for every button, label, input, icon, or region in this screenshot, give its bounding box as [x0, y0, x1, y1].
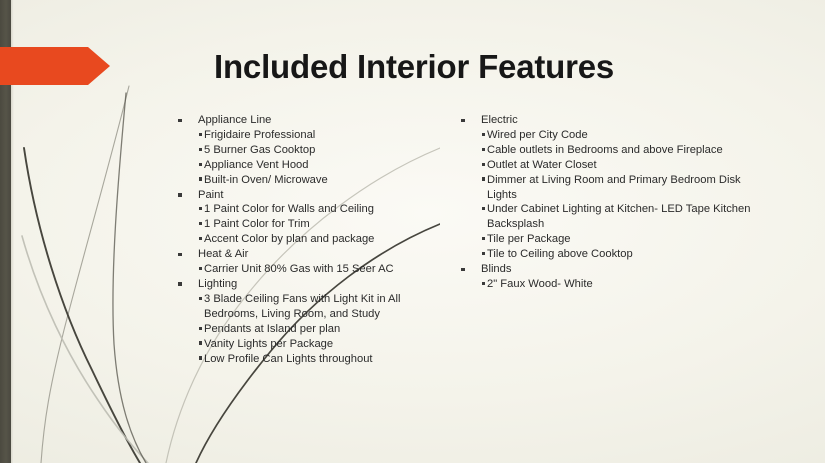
group-heading-label: Paint — [198, 189, 224, 201]
feature-item-label: 2" Faux Wood- White — [487, 278, 593, 290]
group-heading-label: Appliance Line — [198, 114, 271, 126]
feature-item: Carrier Unit 80% Gas with 15 Seer AC — [175, 262, 447, 277]
feature-item-label: Appliance Vent Hood — [204, 159, 309, 171]
feature-group-heading: Appliance Line — [175, 113, 447, 128]
feature-column-left: Appliance Line Frigidaire Professional 5… — [175, 113, 447, 366]
square-bullet-icon — [199, 163, 202, 166]
feature-item-label: Tile per Package — [487, 233, 571, 245]
feature-item: Tile to Ceiling above Cooktop — [458, 247, 758, 262]
square-bullet-icon — [199, 327, 202, 330]
feature-item-label: Pendants at Island per plan — [204, 323, 340, 335]
feature-item: 1 Paint Color for Walls and Ceiling — [175, 202, 447, 217]
feature-item: Tile per Package — [458, 232, 758, 247]
feature-item-label: Vanity Lights per Package — [204, 338, 333, 350]
square-bullet-icon — [199, 237, 202, 240]
feature-item-label: Cable outlets in Bedrooms and above Fire… — [487, 144, 723, 156]
square-bullet-icon — [178, 119, 182, 123]
feature-item: Under Cabinet Lighting at Kitchen- LED T… — [458, 202, 758, 232]
feature-item: Appliance Vent Hood — [175, 158, 447, 173]
square-bullet-icon — [461, 268, 465, 272]
feature-group-heading: Paint — [175, 188, 447, 203]
feature-item: 2" Faux Wood- White — [458, 277, 758, 292]
square-bullet-icon — [482, 177, 485, 180]
feature-item-label: 1 Paint Color for Trim — [204, 218, 310, 230]
group-heading-label: Lighting — [198, 278, 237, 290]
feature-column-right: Electric Wired per City Code Cable outle… — [458, 113, 758, 292]
square-bullet-icon — [199, 133, 202, 136]
feature-group-heading: Lighting — [175, 277, 447, 292]
square-bullet-icon — [199, 148, 202, 151]
feature-item-label: Under Cabinet Lighting at Kitchen- LED T… — [487, 203, 750, 230]
feature-item: 1 Paint Color for Trim — [175, 217, 447, 232]
square-bullet-icon — [178, 253, 182, 257]
feature-group-heading: Electric — [458, 113, 758, 128]
square-bullet-icon — [482, 252, 485, 255]
feature-item-label: 3 Blade Ceiling Fans with Light Kit in A… — [204, 293, 401, 320]
square-bullet-icon — [482, 237, 485, 240]
group-heading-label: Electric — [481, 114, 518, 126]
square-bullet-icon — [178, 193, 182, 197]
square-bullet-icon — [482, 207, 485, 210]
feature-item-label: Built-in Oven/ Microwave — [204, 174, 328, 186]
feature-item: Frigidaire Professional — [175, 128, 447, 143]
feature-group-heading: Blinds — [458, 262, 758, 277]
slide-title: Included Interior Features — [214, 48, 614, 86]
feature-item-label: Carrier Unit 80% Gas with 15 Seer AC — [204, 263, 394, 275]
feature-item: Vanity Lights per Package — [175, 337, 447, 352]
square-bullet-icon — [199, 222, 202, 225]
square-bullet-icon — [199, 356, 202, 359]
square-bullet-icon — [482, 133, 485, 136]
square-bullet-icon — [199, 341, 202, 344]
feature-item-label: Accent Color by plan and package — [204, 233, 374, 245]
square-bullet-icon — [199, 207, 202, 210]
group-heading-label: Heat & Air — [198, 248, 248, 260]
feature-item: Accent Color by plan and package — [175, 232, 447, 247]
feature-group-heading: Heat & Air — [175, 247, 447, 262]
square-bullet-icon — [482, 282, 485, 285]
feature-item: 3 Blade Ceiling Fans with Light Kit in A… — [175, 292, 447, 322]
presentation-slide: Included Interior Features Appliance Lin… — [0, 0, 825, 463]
feature-item-label: Wired per City Code — [487, 129, 588, 141]
feature-item-label: 5 Burner Gas Cooktop — [204, 144, 315, 156]
feature-item: Outlet at Water Closet — [458, 158, 758, 173]
square-bullet-icon — [199, 267, 202, 270]
feature-item-label: Frigidaire Professional — [204, 129, 315, 141]
square-bullet-icon — [482, 163, 485, 166]
feature-item: Pendants at Island per plan — [175, 322, 447, 337]
feature-item: Cable outlets in Bedrooms and above Fire… — [458, 143, 758, 158]
feature-item: 5 Burner Gas Cooktop — [175, 143, 447, 158]
feature-item-label: Dimmer at Living Room and Primary Bedroo… — [487, 174, 741, 201]
feature-item: Low Profile Can Lights throughout — [175, 352, 447, 367]
feature-item-label: Low Profile Can Lights throughout — [204, 353, 373, 365]
feature-item: Wired per City Code — [458, 128, 758, 143]
feature-item-label: Tile to Ceiling above Cooktop — [487, 248, 633, 260]
square-bullet-icon — [461, 119, 465, 123]
square-bullet-icon — [199, 297, 202, 300]
square-bullet-icon — [199, 177, 202, 180]
square-bullet-icon — [178, 282, 182, 286]
group-heading-label: Blinds — [481, 263, 511, 275]
square-bullet-icon — [482, 148, 485, 151]
feature-item: Dimmer at Living Room and Primary Bedroo… — [458, 173, 758, 203]
orange-arrow-banner — [0, 47, 110, 85]
feature-item-label: 1 Paint Color for Walls and Ceiling — [204, 203, 374, 215]
feature-item: Built-in Oven/ Microwave — [175, 173, 447, 188]
feature-item-label: Outlet at Water Closet — [487, 159, 597, 171]
